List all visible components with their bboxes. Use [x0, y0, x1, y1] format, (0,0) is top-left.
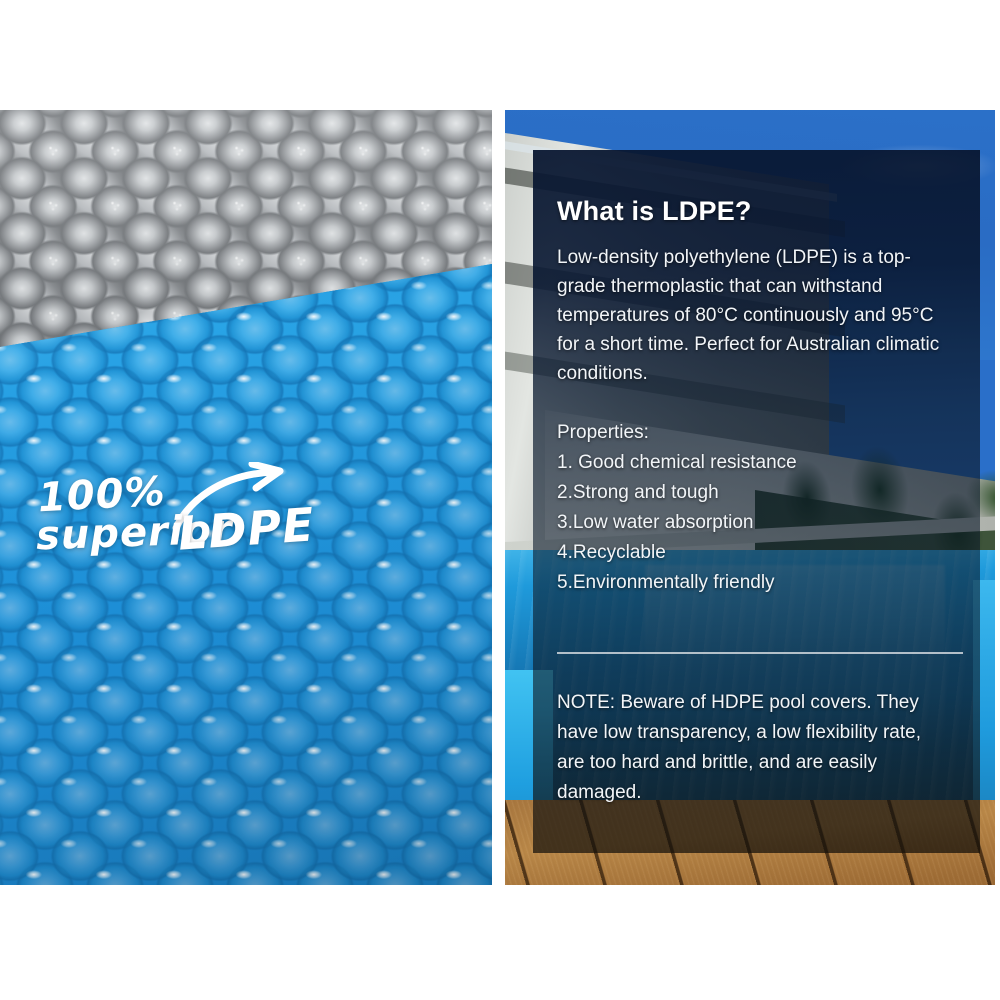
card-paragraph: Low-density polyethylene (LDPE) is a top… [557, 243, 952, 388]
list-item: 5.Environmentally friendly [557, 568, 952, 598]
section-divider [557, 652, 963, 654]
list-item: 1. Good chemical resistance [557, 448, 952, 478]
left-image-panel: 100% superior LDPE [0, 110, 492, 885]
list-item: 2.Strong and tough [557, 478, 952, 508]
card-title: What is LDPE? [557, 196, 952, 227]
properties-heading: Properties: [557, 418, 952, 448]
product-infographic: 100% superior LDPE What is LDPE? Low-den… [0, 0, 1000, 1000]
list-item: 3.Low water absorption [557, 508, 952, 538]
list-item: 4.Recyclable [557, 538, 952, 568]
properties-list: Properties: 1. Good chemical resistance … [557, 418, 952, 598]
right-image-panel: What is LDPE? Low-density polyethylene (… [505, 110, 995, 885]
note-text: NOTE: Beware of HDPE pool covers. They h… [557, 688, 952, 808]
overlay-ldpe-text: LDPE [176, 497, 316, 560]
info-card: What is LDPE? Low-density polyethylene (… [533, 150, 980, 853]
